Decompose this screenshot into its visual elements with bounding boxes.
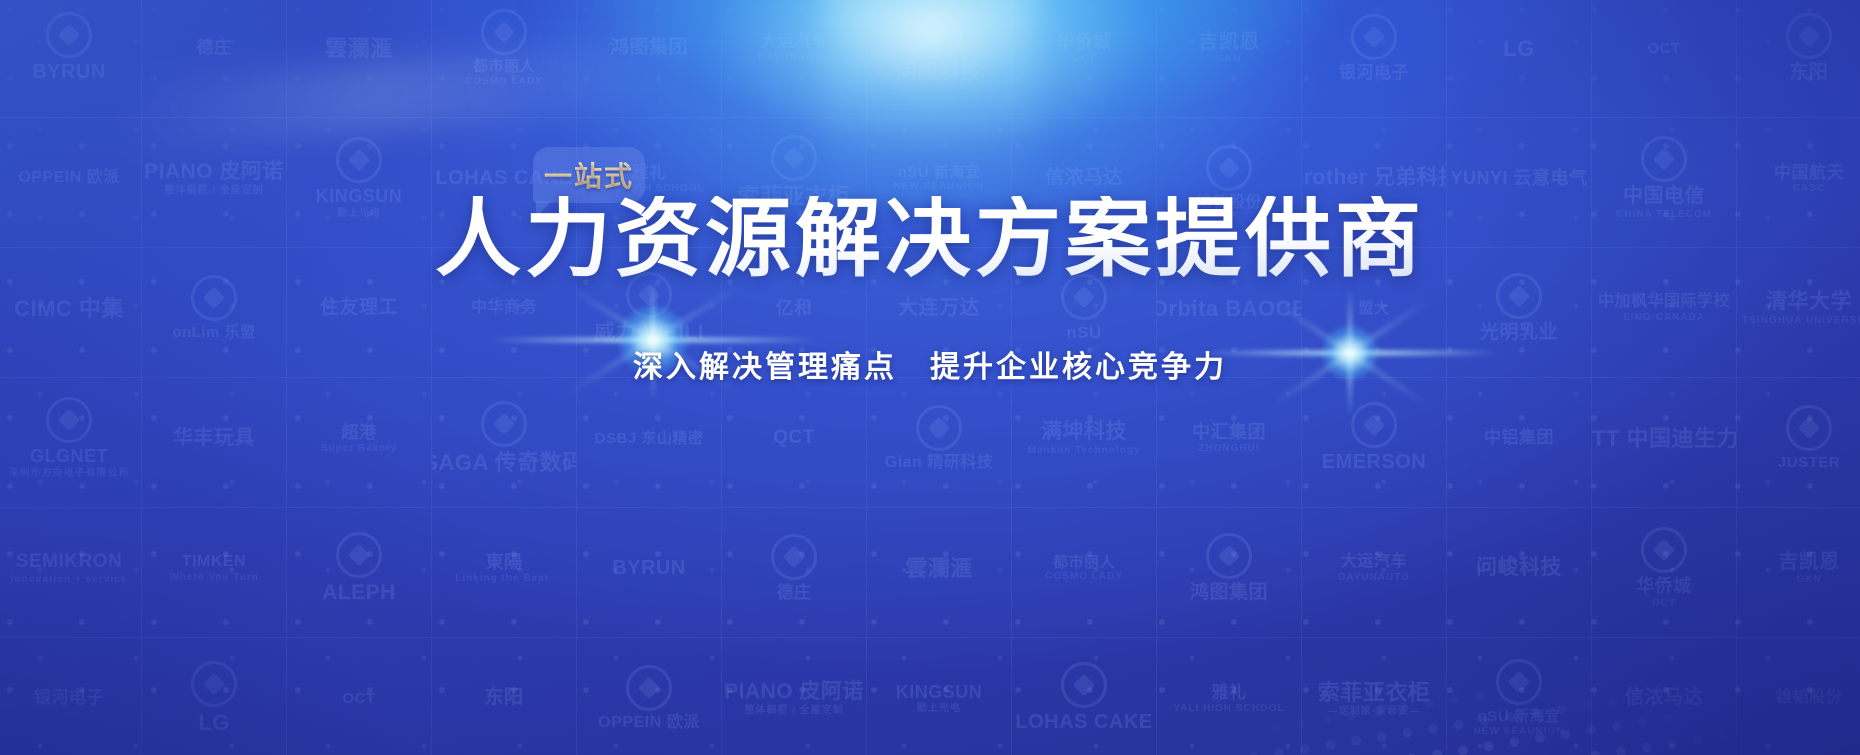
one-stop-badge-label: 一站式 [544,155,634,195]
one-stop-badge: 一站式 [533,147,645,203]
hero-content: 一站式 人力资源解决方案提供商 深入解决管理痛点 提升企业核心竞争力 [0,0,1860,755]
hero-banner: BYRUN德庄雲瀾滙都市丽人COSMO LADY鸿图集团大运汽车DAYUNAUT… [0,0,1860,755]
hero-title: 人力资源解决方案提供商 [0,196,1860,282]
hero-subtitle: 深入解决管理痛点 提升企业核心竞争力 [0,342,1860,386]
